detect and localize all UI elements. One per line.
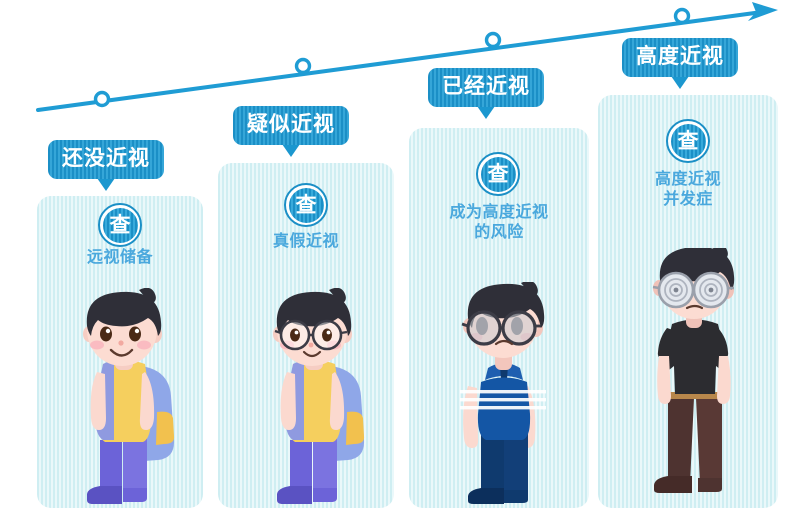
arrow-node-4 bbox=[676, 10, 689, 23]
badge-tail-icon bbox=[477, 106, 495, 119]
stage-badge-label-2: 疑似近视 bbox=[233, 106, 349, 145]
stage-badge-4[interactable]: 高度近视 bbox=[622, 38, 738, 89]
check-seal-3: 查 bbox=[476, 152, 520, 196]
stage-badge-label-3: 已经近视 bbox=[428, 68, 544, 107]
check-seal-glyph-1: 查 bbox=[103, 208, 138, 243]
badge-tail-icon bbox=[97, 178, 115, 191]
check-seal-2: 查 bbox=[284, 183, 328, 227]
stage-badge-3[interactable]: 已经近视 bbox=[428, 68, 544, 119]
check-seal-1: 查 bbox=[98, 203, 142, 247]
arrow-head bbox=[748, 2, 778, 21]
stage-caption-2: 真假近视 bbox=[220, 232, 392, 252]
stage-badge-label-1: 还没近视 bbox=[48, 140, 164, 179]
arrow-node-1 bbox=[96, 93, 109, 106]
check-seal-glyph-3: 查 bbox=[481, 157, 516, 192]
badge-tail-icon bbox=[671, 76, 689, 89]
arrow-node-2 bbox=[297, 60, 310, 73]
infographic-canvas: 还没近视 查 远视储备 bbox=[0, 0, 800, 519]
check-seal-4: 查 bbox=[666, 119, 710, 163]
stage-caption-1: 远视储备 bbox=[40, 248, 200, 268]
stage-caption-3: 成为高度近视 的风险 bbox=[410, 203, 588, 243]
check-seal-glyph-4: 查 bbox=[671, 124, 706, 159]
stage-badge-label-4: 高度近视 bbox=[622, 38, 738, 77]
arrow-node-3 bbox=[487, 34, 500, 47]
stage-caption-4: 高度近视 并发症 bbox=[600, 170, 776, 210]
stage-badge-2[interactable]: 疑似近视 bbox=[233, 106, 349, 157]
badge-tail-icon bbox=[282, 144, 300, 157]
stage-badge-1[interactable]: 还没近视 bbox=[48, 140, 164, 191]
check-seal-glyph-2: 查 bbox=[289, 188, 324, 223]
